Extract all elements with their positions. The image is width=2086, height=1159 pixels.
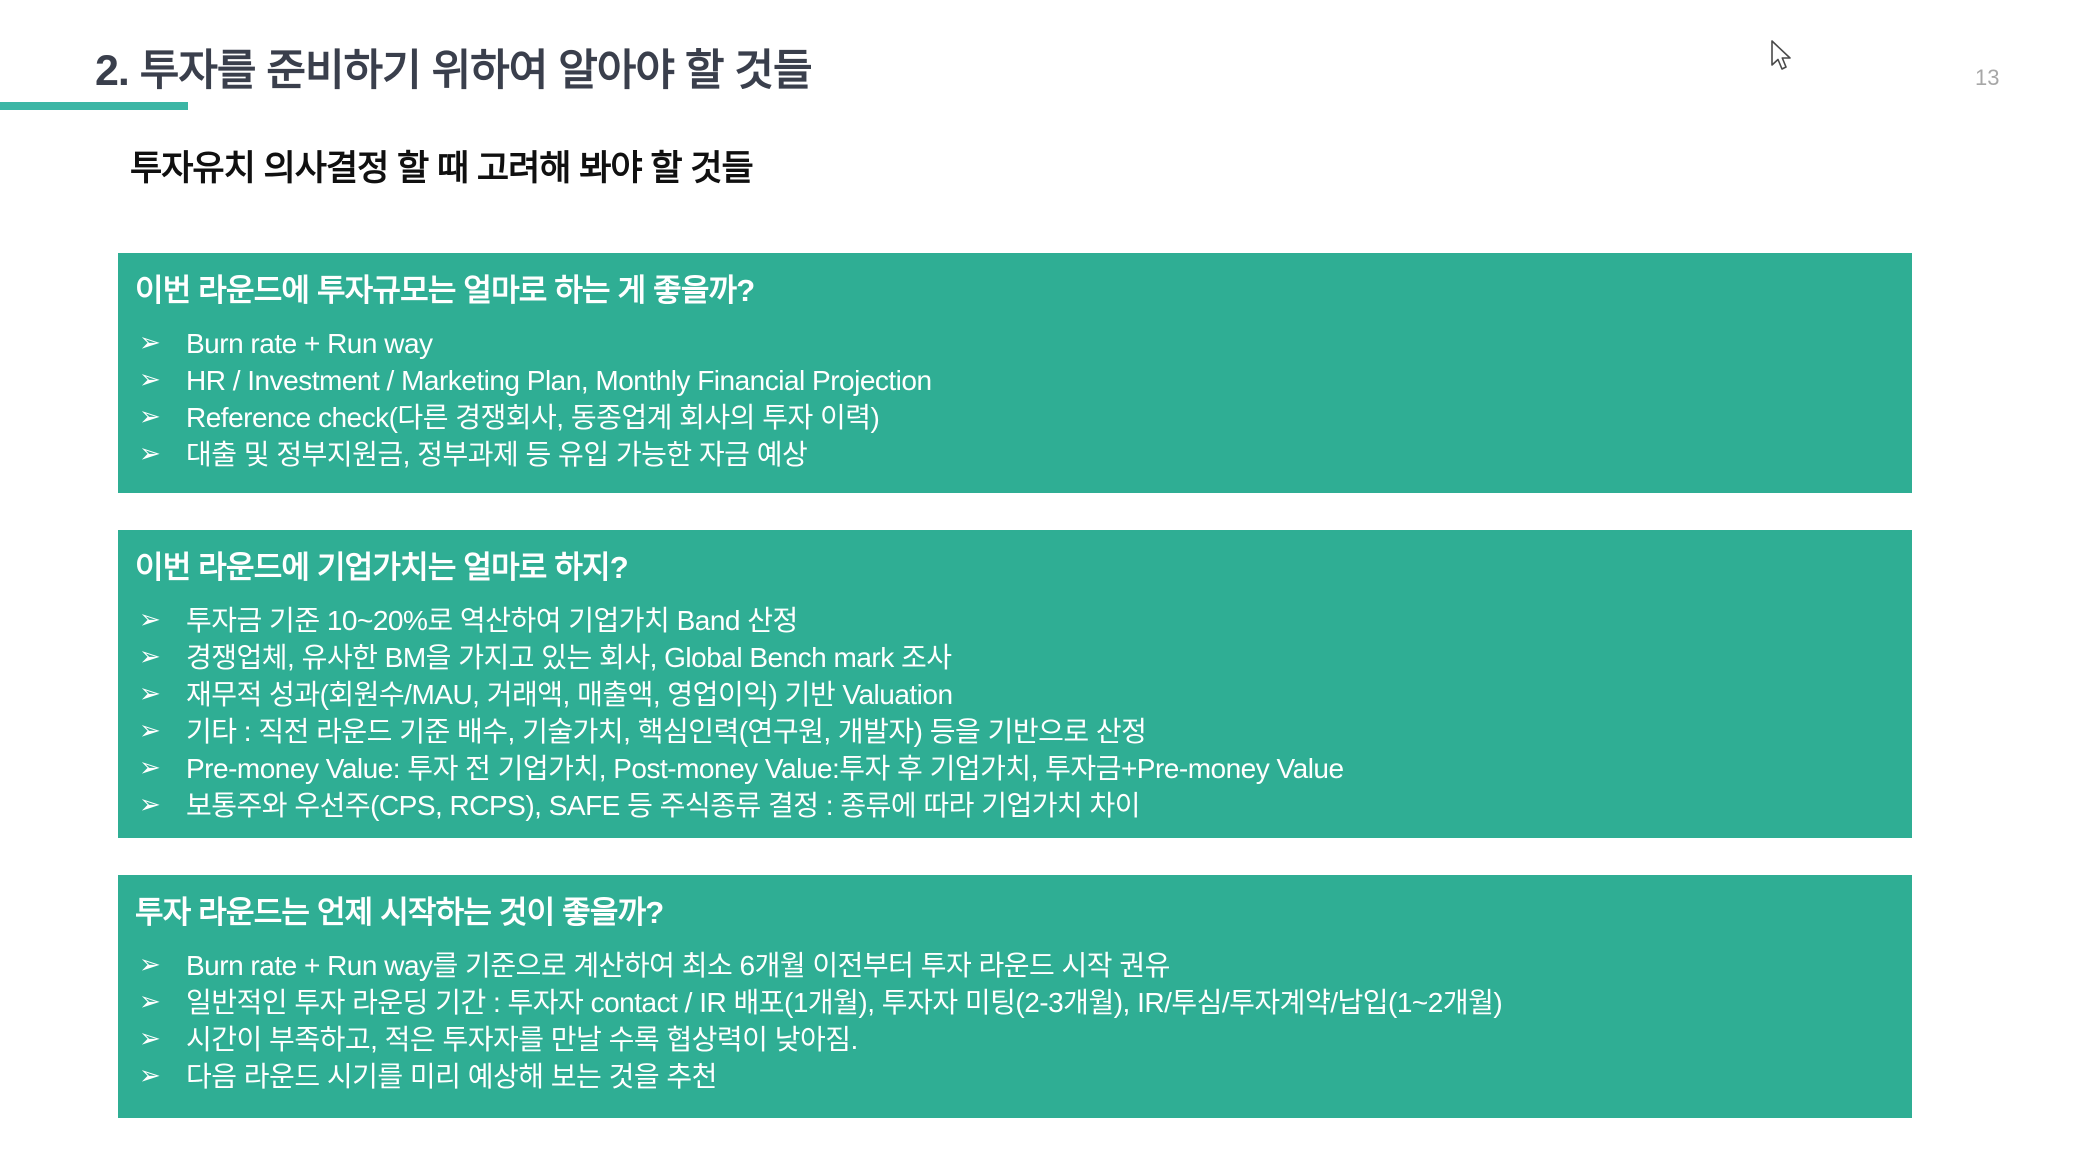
list-item: ➢투자금 기준 10~20%로 역산하여 기업가치 Band 산정 bbox=[118, 602, 1912, 639]
list-item: ➢다음 라운드 시기를 미리 예상해 보는 것을 추천 bbox=[118, 1058, 1912, 1095]
list-item-label: 경쟁업체, 유사한 BM을 가지고 있는 회사, Global Bench ma… bbox=[186, 639, 952, 676]
list-item-label: 재무적 성과(회원수/MAU, 거래액, 매출액, 영업이익) 기반 Valua… bbox=[186, 676, 953, 713]
slide-subtitle: 투자유치 의사결정 할 때 고려해 봐야 할 것들 bbox=[130, 140, 753, 191]
page-number: 13 bbox=[1975, 65, 1999, 91]
list-item-label: 보통주와 우선주(CPS, RCPS), SAFE 등 주식종류 결정 : 종류… bbox=[186, 787, 1140, 824]
list-item: ➢경쟁업체, 유사한 BM을 가지고 있는 회사, Global Bench m… bbox=[118, 639, 1912, 676]
arrow-bullet-icon: ➢ bbox=[139, 750, 186, 787]
bullet-list: ➢Burn rate + Run way➢HR / Investment / M… bbox=[118, 325, 1912, 473]
list-item-label: Reference check(다른 경쟁회사, 동종업계 회사의 투자 이력) bbox=[186, 399, 879, 436]
list-item: ➢일반적인 투자 라운딩 기간 : 투자자 contact / IR 배포(1개… bbox=[118, 984, 1912, 1021]
list-item: ➢보통주와 우선주(CPS, RCPS), SAFE 등 주식종류 결정 : 종… bbox=[118, 787, 1912, 824]
arrow-bullet-icon: ➢ bbox=[139, 713, 186, 750]
bullet-list: ➢Burn rate + Run way를 기준으로 계산하여 최소 6개월 이… bbox=[118, 947, 1912, 1095]
title-underline-rule bbox=[0, 102, 188, 110]
list-item-label: Burn rate + Run way bbox=[186, 325, 433, 362]
arrow-bullet-icon: ➢ bbox=[139, 787, 186, 824]
list-item-label: 투자금 기준 10~20%로 역산하여 기업가치 Band 산정 bbox=[186, 602, 798, 639]
panel-heading: 이번 라운드에 기업가치는 얼마로 하지? bbox=[135, 542, 628, 587]
arrow-bullet-icon: ➢ bbox=[139, 399, 186, 436]
arrow-bullet-icon: ➢ bbox=[139, 1021, 186, 1058]
arrow-bullet-icon: ➢ bbox=[139, 984, 186, 1021]
mouse-cursor-icon bbox=[1770, 40, 1796, 74]
list-item-label: 기타 : 직전 라운드 기준 배수, 기술가치, 핵심인력(연구원, 개발자) … bbox=[186, 713, 1146, 750]
content-panel: 이번 라운드에 기업가치는 얼마로 하지?➢투자금 기준 10~20%로 역산하… bbox=[118, 530, 1912, 838]
arrow-bullet-icon: ➢ bbox=[139, 325, 186, 362]
arrow-bullet-icon: ➢ bbox=[139, 676, 186, 713]
list-item: ➢Reference check(다른 경쟁회사, 동종업계 회사의 투자 이력… bbox=[118, 399, 1912, 436]
list-item: ➢기타 : 직전 라운드 기준 배수, 기술가치, 핵심인력(연구원, 개발자)… bbox=[118, 713, 1912, 750]
list-item-label: HR / Investment / Marketing Plan, Monthl… bbox=[186, 362, 932, 399]
panel-heading: 이번 라운드에 투자규모는 얼마로 하는 게 좋을까? bbox=[135, 265, 754, 310]
bullet-list: ➢투자금 기준 10~20%로 역산하여 기업가치 Band 산정➢경쟁업체, … bbox=[118, 602, 1912, 824]
list-item: ➢Burn rate + Run way bbox=[118, 325, 1912, 362]
arrow-bullet-icon: ➢ bbox=[139, 639, 186, 676]
panel-heading: 투자 라운드는 언제 시작하는 것이 좋을까? bbox=[135, 887, 663, 932]
page-title: 2. 투자를 준비하기 위하여 알아야 할 것들 bbox=[95, 36, 812, 98]
presentation-slide: 2. 투자를 준비하기 위하여 알아야 할 것들 투자유치 의사결정 할 때 고… bbox=[0, 0, 2086, 1159]
arrow-bullet-icon: ➢ bbox=[139, 602, 186, 639]
list-item-label: 대출 및 정부지원금, 정부과제 등 유입 가능한 자금 예상 bbox=[186, 436, 807, 473]
list-item-label: 다음 라운드 시기를 미리 예상해 보는 것을 추천 bbox=[186, 1058, 717, 1095]
list-item-label: 일반적인 투자 라운딩 기간 : 투자자 contact / IR 배포(1개월… bbox=[186, 984, 1502, 1021]
list-item-label: Burn rate + Run way를 기준으로 계산하여 최소 6개월 이전… bbox=[186, 947, 1170, 984]
arrow-bullet-icon: ➢ bbox=[139, 1058, 186, 1095]
arrow-bullet-icon: ➢ bbox=[139, 436, 186, 473]
arrow-bullet-icon: ➢ bbox=[139, 947, 186, 984]
list-item: ➢Pre-money Value: 투자 전 기업가치, Post-money … bbox=[118, 750, 1912, 787]
arrow-bullet-icon: ➢ bbox=[139, 362, 186, 399]
list-item-label: Pre-money Value: 투자 전 기업가치, Post-money V… bbox=[186, 750, 1344, 787]
content-panel: 이번 라운드에 투자규모는 얼마로 하는 게 좋을까?➢Burn rate + … bbox=[118, 253, 1912, 493]
list-item: ➢Burn rate + Run way를 기준으로 계산하여 최소 6개월 이… bbox=[118, 947, 1912, 984]
content-panel: 투자 라운드는 언제 시작하는 것이 좋을까?➢Burn rate + Run … bbox=[118, 875, 1912, 1118]
list-item: ➢HR / Investment / Marketing Plan, Month… bbox=[118, 362, 1912, 399]
list-item-label: 시간이 부족하고, 적은 투자자를 만날 수록 협상력이 낮아짐. bbox=[186, 1021, 858, 1058]
list-item: ➢대출 및 정부지원금, 정부과제 등 유입 가능한 자금 예상 bbox=[118, 436, 1912, 473]
list-item: ➢시간이 부족하고, 적은 투자자를 만날 수록 협상력이 낮아짐. bbox=[118, 1021, 1912, 1058]
list-item: ➢재무적 성과(회원수/MAU, 거래액, 매출액, 영업이익) 기반 Valu… bbox=[118, 676, 1912, 713]
